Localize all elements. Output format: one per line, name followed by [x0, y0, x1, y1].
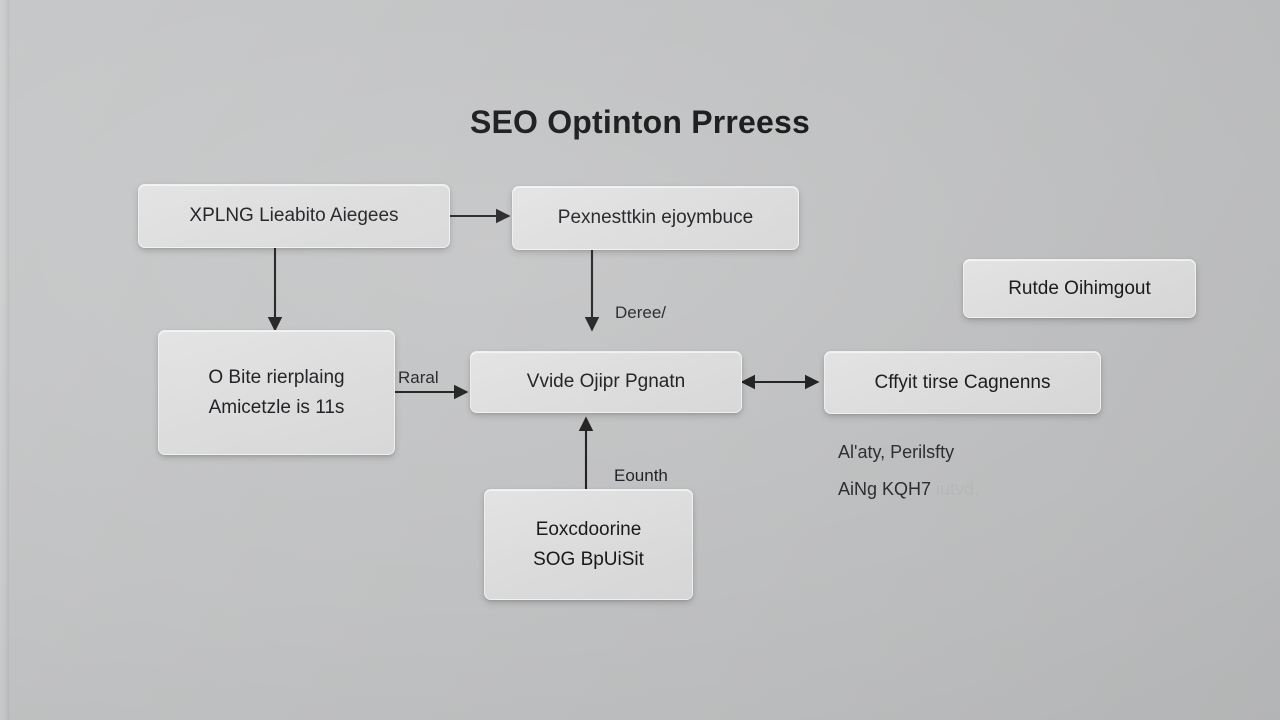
note-line-1-faded: iutvd,	[936, 479, 979, 499]
edge-label-n2-to-n5: Deree/	[615, 303, 666, 323]
node-n7-line-0: Eoxcdoorine	[536, 515, 642, 544]
node-n4-line-0: O Bite rierplaing	[208, 363, 344, 392]
node-n3-line-0: Rutde Oihimgout	[1008, 274, 1151, 303]
node-n5-line-0: Vvide Ojipr Pgnatn	[527, 367, 685, 396]
edge-label-n4-to-n5: Raral	[398, 368, 439, 388]
node-n6[interactable]: Cffyit tirse Cagnenns	[824, 351, 1101, 414]
node-n7[interactable]: Eoxcdoorine SOG BpUiSit	[484, 489, 693, 600]
node-n4-line-1: Amicetzle is 11s	[209, 393, 345, 422]
node-n1[interactable]: XPLNG Lieabito Aiegees	[138, 184, 450, 248]
diagram-canvas: SEO Optinton Prreess XPLNG Lieabito Aieg…	[0, 0, 1280, 720]
node-n6-line-0: Cffyit tirse Cagnenns	[874, 368, 1050, 397]
page-title: SEO Optinton Prreess	[0, 104, 1280, 141]
node-n5[interactable]: Vvide Ojipr Pgnatn	[470, 351, 742, 413]
node-n7-line-1: SOG BpUiSit	[533, 545, 644, 574]
edge-label-n7-to-n5: Eounth	[614, 466, 668, 486]
node-n2[interactable]: Pexnesttkin ejoymbuce	[512, 186, 799, 250]
node-n2-line-0: Pexnesttkin ejoymbuce	[558, 203, 753, 232]
node-n3[interactable]: Rutde Oihimgout	[963, 259, 1196, 318]
note-line-0: Al'aty, Perilsfty	[838, 442, 954, 463]
note-line-1: AiNg KQH7 iutvd,	[838, 479, 979, 500]
note-line-1-text: AiNg KQH7	[838, 479, 936, 499]
node-n1-line-0: XPLNG Lieabito Aiegees	[189, 201, 398, 230]
node-n4[interactable]: O Bite rierplaing Amicetzle is 11s	[158, 330, 395, 455]
note-line-0-text: Al'aty, Perilsfty	[838, 442, 954, 462]
